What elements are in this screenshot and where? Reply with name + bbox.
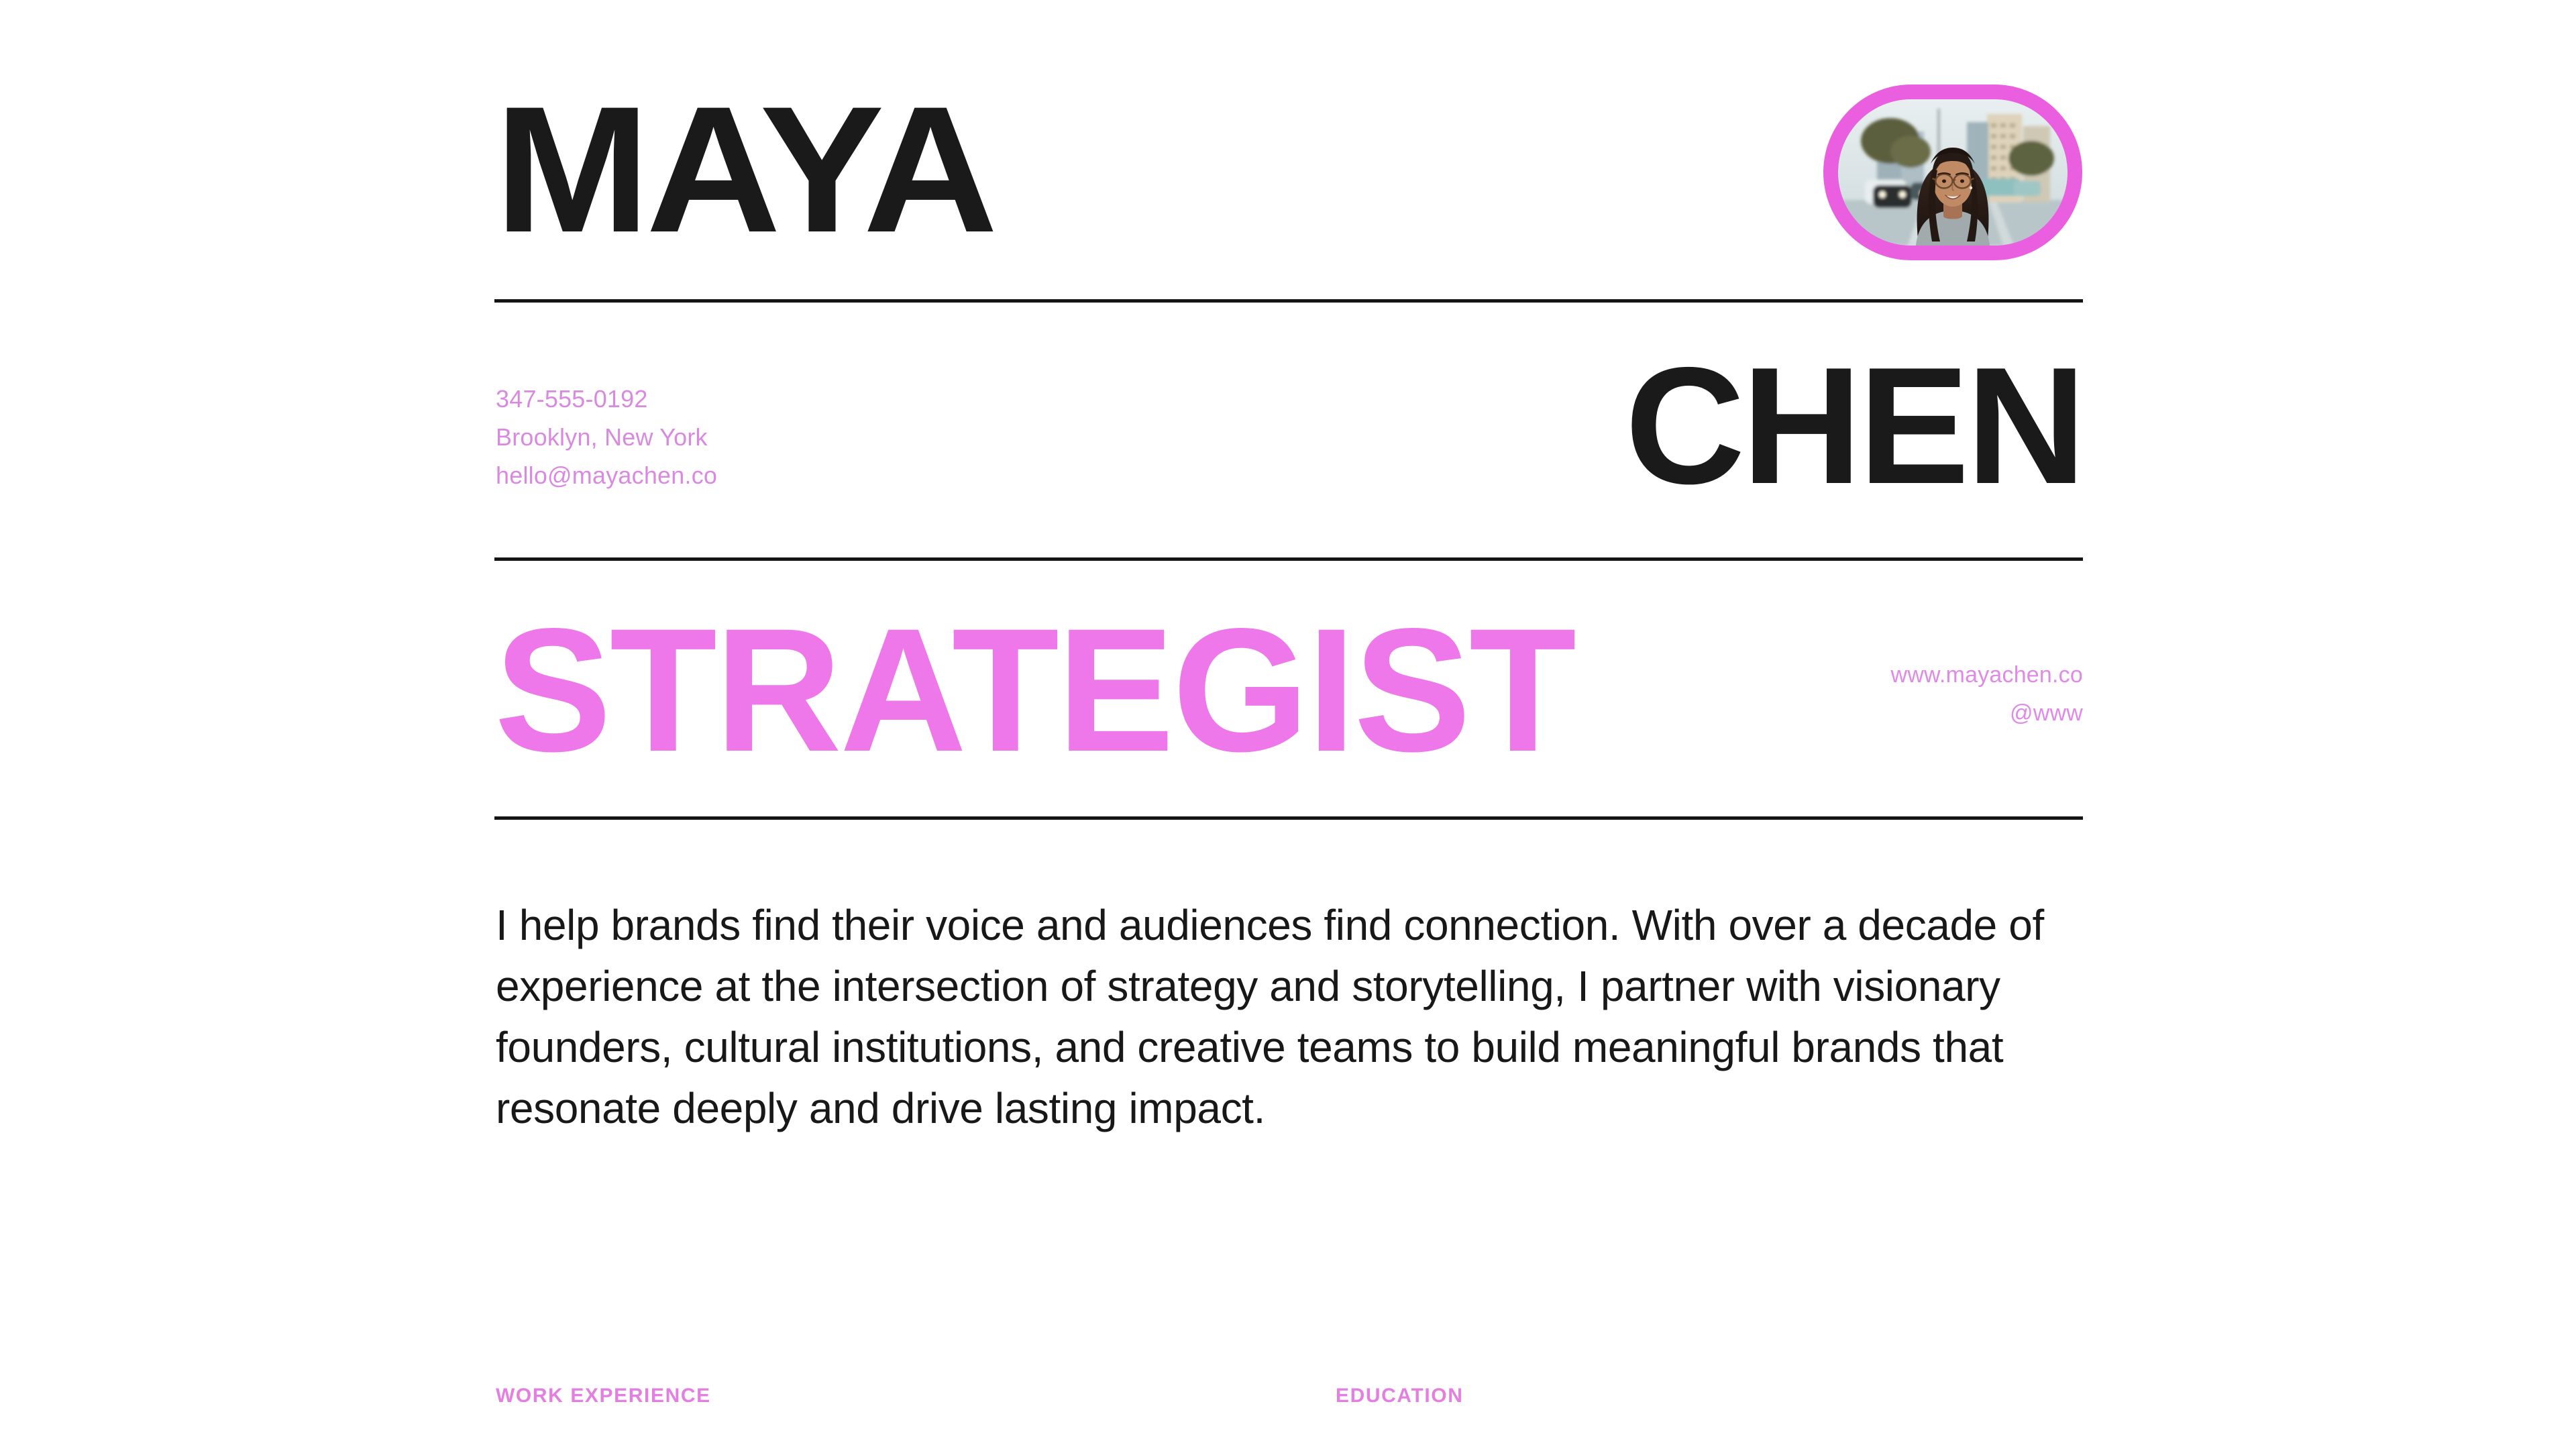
website-link[interactable]: www.mayachen.co xyxy=(1891,656,2083,694)
contact-location: Brooklyn, New York xyxy=(496,418,717,456)
divider-rule-1 xyxy=(494,299,2083,303)
section-heading-work-experience: WORK EXPERIENCE xyxy=(496,1384,711,1408)
links-block: www.mayachen.co @www xyxy=(1891,656,2083,733)
resume-page: MAYA xyxy=(0,0,2576,1449)
contact-phone[interactable]: 347-555-0192 xyxy=(496,380,717,418)
contact-block: 347-555-0192 Brooklyn, New York hello@ma… xyxy=(496,380,717,494)
avatar xyxy=(1823,85,2082,260)
divider-rule-2 xyxy=(494,557,2083,561)
section-heading-education: EDUCATION xyxy=(1336,1384,1464,1408)
first-name-heading: MAYA xyxy=(494,79,994,259)
bio-paragraph: I help brands find their voice and audie… xyxy=(496,895,2092,1139)
social-handle-link[interactable]: @www xyxy=(1891,694,2083,733)
avatar-photo xyxy=(1838,99,2068,246)
contact-email[interactable]: hello@mayachen.co xyxy=(496,456,717,494)
divider-rule-3 xyxy=(494,816,2083,820)
role-title-heading: STRATEGIST xyxy=(494,602,1574,778)
section-headings-row: WORK EXPERIENCE EDUCATION xyxy=(494,1384,2083,1424)
resume-content-column: MAYA xyxy=(494,0,2083,1449)
last-name-heading: CHEN xyxy=(1625,342,2083,508)
